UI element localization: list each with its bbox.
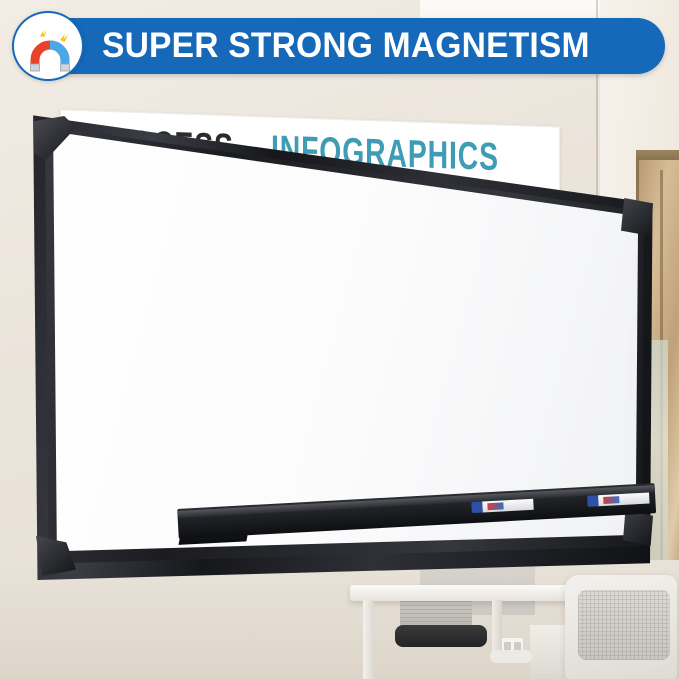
desk-leg-left — [363, 600, 374, 679]
promo-banner: SUPER STRONG MAGNETISM — [40, 18, 665, 74]
chair-armrest — [490, 650, 532, 663]
banner-title: SUPER STRONG MAGNETISM — [102, 26, 590, 66]
chair-mesh-panel — [578, 590, 670, 660]
chair-seat-rear — [395, 625, 487, 647]
corner-bracket-top-right — [621, 198, 653, 236]
marker-cap — [587, 495, 599, 507]
magnet-badge — [12, 11, 84, 81]
marker-cap — [471, 502, 483, 514]
marker-label — [603, 496, 619, 504]
magnetic-whiteboard[interactable] — [30, 100, 655, 580]
marker-label — [487, 502, 503, 510]
side-cabinet — [530, 625, 566, 679]
marker-2[interactable] — [587, 492, 650, 506]
marker-1[interactable] — [471, 499, 534, 513]
horseshoe-magnet-icon — [22, 20, 78, 76]
corner-bracket-bottom-right — [623, 510, 653, 546]
